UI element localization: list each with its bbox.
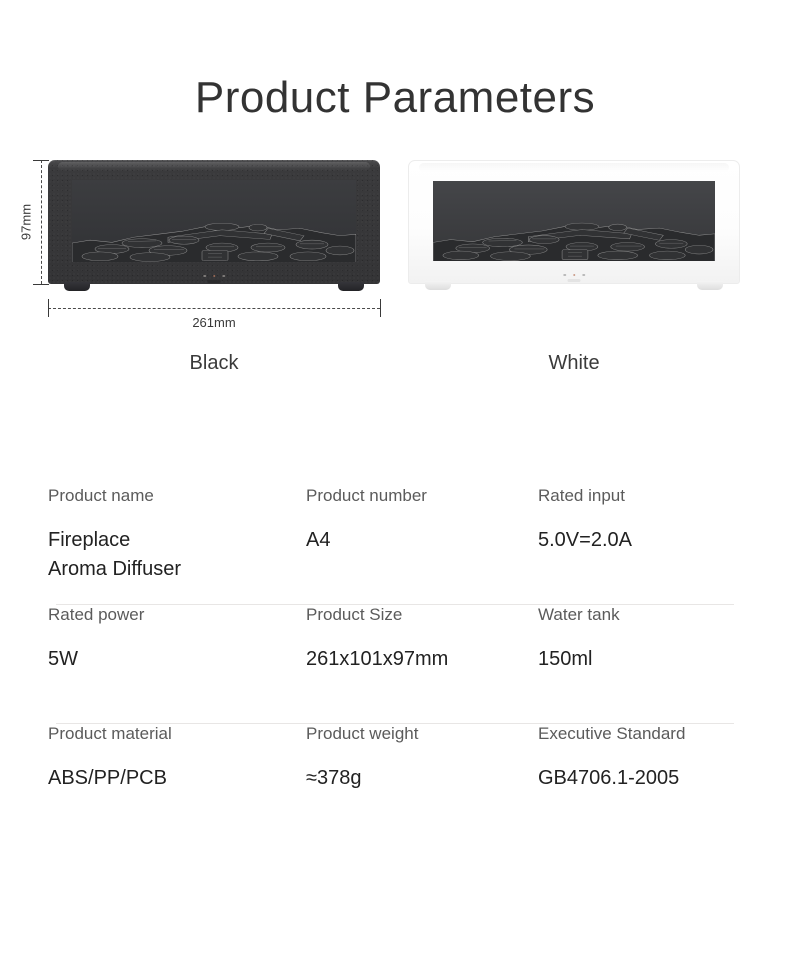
flame-screen-white: [433, 181, 715, 261]
spec-row: Product material ABS/PP/PCB Product weig…: [0, 724, 790, 842]
spec-row: Product name Fireplace Aroma Diffuser Pr…: [0, 486, 790, 604]
led-indicator: [573, 274, 576, 277]
led-indicator: [222, 275, 225, 278]
color-caption-white: White: [408, 352, 740, 375]
unit-foot-left: [425, 281, 451, 290]
log-pile-graphic-white: [433, 218, 715, 261]
spec-value: Fireplace Aroma Diffuser: [48, 526, 306, 584]
unit-foot-right: [697, 281, 723, 290]
spec-value: ABS/PP/PCB: [48, 764, 306, 793]
spec-value: 261x101x97mm: [306, 645, 538, 674]
spec-row: Rated power 5W Product Size 261x101x97mm…: [0, 605, 790, 723]
product-image-black: [48, 160, 380, 284]
spec-value: 5.0V=2.0A: [538, 526, 742, 555]
unit-foot-right: [338, 282, 364, 291]
product-image-white: [408, 160, 740, 284]
fireplace-diffuser-black: [48, 160, 380, 284]
log-pile-graphic-black: [72, 218, 356, 262]
flame-screen-black: [72, 180, 356, 262]
control-slot: [208, 280, 221, 283]
spec-value: ≈378g: [306, 764, 538, 793]
spec-cell-executive-standard: Executive Standard GB4706.1-2005: [538, 724, 742, 842]
fireplace-diffuser-white: [408, 160, 740, 284]
spec-cell-rated-power: Rated power 5W: [48, 605, 306, 723]
width-dimension-tick-right: [380, 299, 381, 317]
height-dimension-label: 97mm: [19, 204, 34, 240]
indicator-leds-white: [563, 274, 585, 277]
product-gallery: 97mm 261mm: [0, 160, 790, 400]
spec-cell-product-weight: Product weight ≈378g: [306, 724, 538, 842]
spec-value: A4: [306, 526, 538, 555]
led-indicator: [203, 275, 206, 278]
spec-cell-product-material: Product material ABS/PP/PCB: [48, 724, 306, 842]
control-slot: [568, 279, 581, 282]
spec-label: Executive Standard: [538, 724, 742, 744]
spec-label: Product name: [48, 486, 306, 506]
lid-highlight: [419, 163, 729, 172]
spec-cell-product-number: Product number A4: [306, 486, 538, 604]
product-parameters-page: { "page": { "title": "Product Parameters…: [0, 0, 790, 978]
specifications-table: Product name Fireplace Aroma Diffuser Pr…: [0, 486, 790, 842]
led-indicator: [582, 274, 585, 277]
spec-label: Product weight: [306, 724, 538, 744]
spec-label: Product number: [306, 486, 538, 506]
unit-foot-left: [64, 282, 90, 291]
led-indicator: [563, 274, 566, 277]
spec-label: Water tank: [538, 605, 742, 625]
spec-label: Product Size: [306, 605, 538, 625]
spec-cell-rated-input: Rated input 5.0V=2.0A: [538, 486, 742, 604]
spec-label: Product material: [48, 724, 306, 744]
height-dimension-line: [41, 160, 42, 284]
height-dimension-cap-bottom: [33, 284, 49, 285]
spec-value: 150ml: [538, 645, 742, 674]
indicator-leds-black: [203, 275, 225, 278]
spec-cell-product-name: Product name Fireplace Aroma Diffuser: [48, 486, 306, 604]
spec-value: GB4706.1-2005: [538, 764, 742, 793]
spec-label: Rated power: [48, 605, 306, 625]
width-dimension-label: 261mm: [48, 315, 380, 330]
spec-label: Rated input: [538, 486, 742, 506]
led-indicator: [213, 275, 216, 278]
spec-cell-product-size: Product Size 261x101x97mm: [306, 605, 538, 723]
width-dimension-line: [48, 308, 380, 309]
spec-cell-water-tank: Water tank 150ml: [538, 605, 742, 723]
page-title: Product Parameters: [0, 0, 790, 120]
color-caption-black: Black: [48, 352, 380, 375]
spec-value: 5W: [48, 645, 306, 674]
height-dimension-cap-top: [33, 160, 49, 161]
lid-highlight: [58, 162, 370, 171]
